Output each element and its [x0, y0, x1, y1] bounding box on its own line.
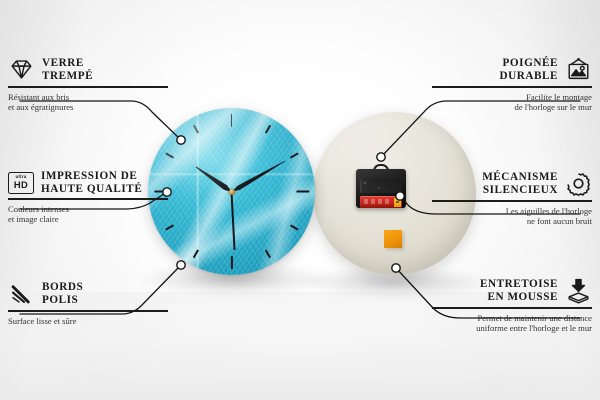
feature-header: ENTRETOISE EN MOUSSE [432, 277, 592, 304]
feature-verre-trempe: VERRE TREMPÉ Résistant aux bris et aux é… [8, 56, 168, 112]
feature-rule [432, 200, 592, 202]
feature-description: Facilite le montage de l'horloge sur le … [432, 92, 592, 113]
feature-header: VERRE TREMPÉ [8, 56, 168, 83]
battery-terminal [394, 198, 401, 207]
feature-title: BORDS POLIS [42, 281, 83, 306]
glass-gloss [148, 108, 315, 275]
battery [360, 196, 402, 208]
feature-description: Résistant aux bris et aux égratignures [8, 92, 168, 113]
feature-description: Surface lisse et sûre [8, 316, 168, 326]
battery-label [364, 199, 391, 204]
feature-bords-polis: BORDS POLIS Surface lisse et sûre [8, 280, 168, 326]
feature-title: IMPRESSION DE HAUTE QUALITÉ [41, 170, 142, 195]
feature-title: POIGNÉE DURABLE [499, 57, 558, 82]
feature-header: POIGNÉE DURABLE [432, 56, 592, 83]
foam-spacer-icon [565, 277, 592, 304]
feature-entretoise-en-mousse: ENTRETOISE EN MOUSSE Permet de maintenir… [432, 277, 592, 333]
feature-poignee-durable: POIGNÉE DURABLE Facilite le montage de l… [432, 56, 592, 112]
feature-rule [432, 86, 592, 88]
feature-title: VERRE TREMPÉ [42, 57, 93, 82]
feature-impression-haute-qualite: ultra HD IMPRESSION DE HAUTE QUALITÉ Cou… [8, 170, 168, 225]
feature-title: MÉCANISME SILENCIEUX [482, 171, 558, 196]
feature-header: MÉCANISME SILENCIEUX [432, 170, 592, 197]
infographic-stage: VERRE TREMPÉ Résistant aux bris et aux é… [0, 0, 600, 400]
feature-rule [8, 198, 168, 200]
feature-rule [8, 86, 168, 88]
diamond-icon [8, 56, 35, 83]
feature-description: Couleurs intenses et image claire [8, 204, 168, 225]
feature-description: Les aiguilles de l'horloge ne font aucun… [432, 206, 592, 227]
clock-front-view [148, 108, 315, 275]
feature-rule [432, 307, 592, 309]
mechanism-detail [360, 179, 402, 193]
clock-mechanism [356, 164, 406, 208]
picture-hanger-icon [565, 56, 592, 83]
feature-title: ENTRETOISE EN MOUSSE [480, 278, 558, 303]
gear-icon [565, 170, 592, 197]
feature-mecanisme-silencieux: MÉCANISME SILENCIEUX Les aiguilles de l'… [432, 170, 592, 226]
polished-edges-icon [8, 280, 35, 307]
feature-description: Permet de maintenir une distance uniform… [432, 313, 592, 334]
ultra-hd-icon: ultra HD [8, 172, 34, 194]
foam-spacer [384, 230, 402, 248]
mechanism-housing [356, 169, 406, 208]
feature-rule [8, 310, 168, 312]
feature-header: ultra HD IMPRESSION DE HAUTE QUALITÉ [8, 170, 168, 195]
feature-header: BORDS POLIS [8, 280, 168, 307]
